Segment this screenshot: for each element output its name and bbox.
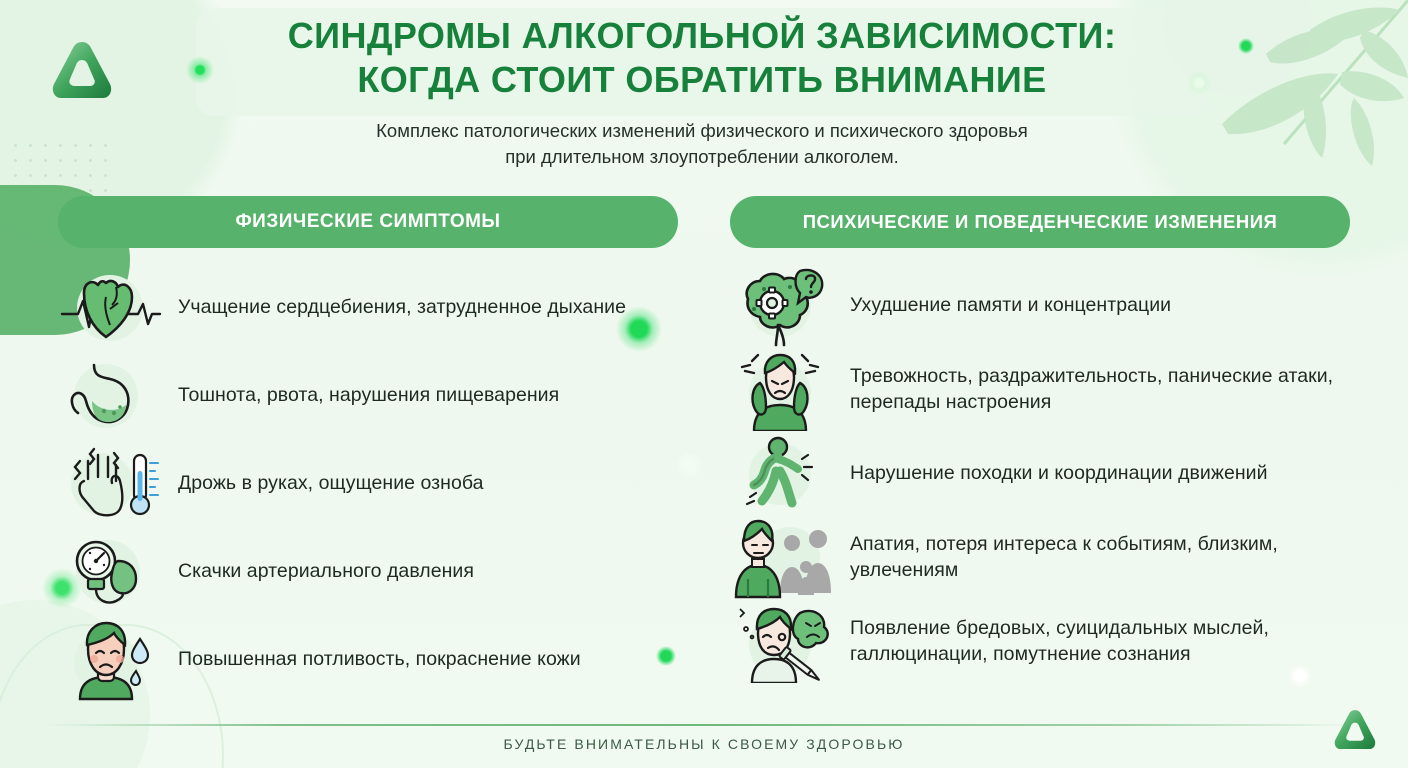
walking-person-icon bbox=[730, 433, 836, 515]
list-item: Учащение сердцебиения, затрудненное дыха… bbox=[58, 264, 678, 352]
list-item: Тревожность, раздражительность, паническ… bbox=[730, 348, 1350, 432]
blood-pressure-monitor-icon bbox=[58, 531, 164, 613]
leaf-branch-icon bbox=[1214, 0, 1408, 204]
subtitle-line-2: при длительном злоупотреблении алкоголем… bbox=[505, 146, 899, 167]
list-item-label: Ухудшение памяти и концентрации bbox=[850, 293, 1171, 319]
anxious-person-icon bbox=[730, 349, 836, 431]
title-line-2: КОГДА СТОИТ ОБРАТИТЬ ВНИМАНИЕ bbox=[196, 58, 1208, 102]
list-item: Тошнота, рвота, нарушения пищеварения bbox=[58, 352, 678, 440]
heart-pulse-icon bbox=[58, 267, 164, 349]
list-item: Появление бредовых, суицидальных мыслей,… bbox=[730, 600, 1350, 684]
list-item-label: Учащение сердцебиения, затрудненное дыха… bbox=[178, 295, 626, 321]
triangle-logo-icon bbox=[46, 36, 118, 108]
list-item: Апатия, потеря интереса к событиям, близ… bbox=[730, 516, 1350, 600]
column-mental-behavioral-changes: ПСИХИЧЕСКИЕ И ПОВЕДЕНЧЕСКИЕ ИЗМЕНЕНИЯ bbox=[730, 196, 1350, 704]
infographic-canvas: СИНДРОМЫ АЛКОГОЛЬНОЙ ЗАВИСИМОСТИ: КОГДА … bbox=[0, 0, 1408, 768]
list-item: Дрожь в руках, ощущение озноба bbox=[58, 440, 678, 528]
list-item: Повышенная потливость, покраснение кожи bbox=[58, 616, 678, 704]
list-item-label: Тревожность, раздражительность, паническ… bbox=[850, 364, 1350, 415]
glow-dot bbox=[1238, 38, 1254, 54]
symptom-columns: ФИЗИЧЕСКИЕ СИМПТОМЫ bbox=[0, 196, 1408, 704]
page-title: СИНДРОМЫ АЛКОГОЛЬНОЙ ЗАВИСИМОСТИ: КОГДА … bbox=[196, 14, 1208, 102]
list-item-label: Появление бредовых, суицидальных мыслей,… bbox=[850, 616, 1350, 667]
list-item-label: Нарушение походки и координации движений bbox=[850, 461, 1268, 487]
list-item: Ухудшение памяти и концентрации bbox=[730, 264, 1350, 348]
list-item-label: Тошнота, рвота, нарушения пищеварения bbox=[178, 383, 559, 409]
physical-symptom-list: Учащение сердцебиения, затрудненное дыха… bbox=[58, 264, 678, 704]
footer-divider bbox=[46, 724, 1362, 726]
trembling-hand-thermometer-icon bbox=[58, 443, 164, 525]
header: СИНДРОМЫ АЛКОГОЛЬНОЙ ЗАВИСИМОСТИ: КОГДА … bbox=[196, 14, 1208, 170]
list-item-label: Скачки артериального давления bbox=[178, 559, 474, 585]
column-heading-physical: ФИЗИЧЕСКИЕ СИМПТОМЫ bbox=[58, 196, 678, 248]
brain-gear-question-icon bbox=[730, 265, 836, 347]
triangle-logo-icon bbox=[1330, 706, 1380, 756]
list-item-label: Апатия, потеря интереса к событиям, близ… bbox=[850, 532, 1350, 583]
list-item-label: Дрожь в руках, ощущение озноба bbox=[178, 471, 484, 497]
list-item-label: Повышенная потливость, покраснение кожи bbox=[178, 647, 581, 673]
footer-text: БУДЬТЕ ВНИМАТЕЛЬНЫ К СВОЕМУ ЗДОРОВЬЮ bbox=[0, 736, 1408, 752]
column-heading-mental: ПСИХИЧЕСКИЕ И ПОВЕДЕНЧЕСКИЕ ИЗМЕНЕНИЯ bbox=[730, 196, 1350, 248]
list-item: Нарушение походки и координации движений bbox=[730, 432, 1350, 516]
stomach-icon bbox=[58, 355, 164, 437]
subtitle-line-1: Комплекс патологических изменений физиче… bbox=[376, 120, 1028, 141]
title-line-1: СИНДРОМЫ АЛКОГОЛЬНОЙ ЗАВИСИМОСТИ: bbox=[288, 15, 1116, 56]
column-physical-symptoms: ФИЗИЧЕСКИЕ СИМПТОМЫ bbox=[58, 196, 678, 704]
list-item: Скачки артериального давления bbox=[58, 528, 678, 616]
apathy-family-icon bbox=[730, 517, 836, 599]
page-subtitle: Комплекс патологических изменений физиче… bbox=[247, 118, 1157, 171]
mental-symptom-list: Ухудшение памяти и концентрации bbox=[730, 264, 1350, 684]
sweating-face-icon bbox=[58, 619, 164, 701]
delusional-thoughts-icon bbox=[730, 601, 836, 683]
